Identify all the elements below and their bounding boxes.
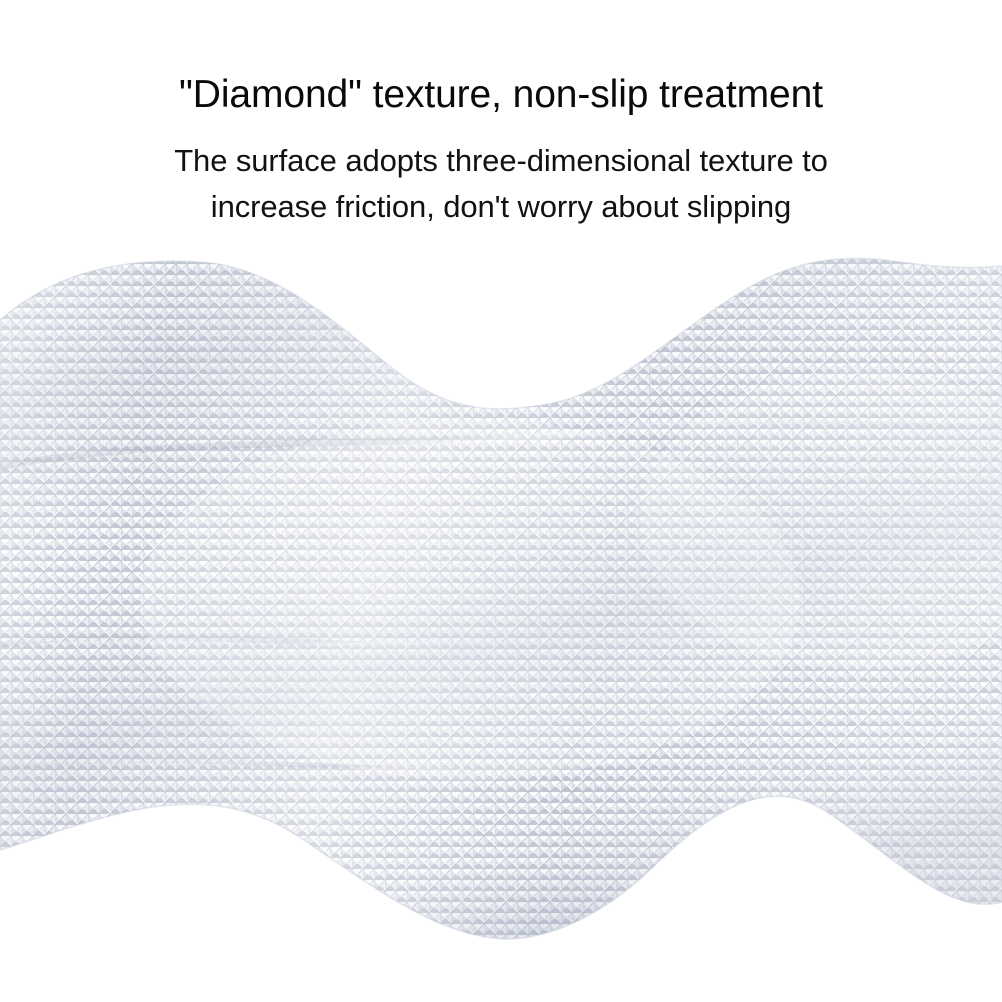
copy-block: "Diamond" texture, non-slip treatment Th… — [0, 0, 1002, 230]
page-title: "Diamond" texture, non-slip treatment — [0, 0, 1002, 118]
product-banner-page: "Diamond" texture, non-slip treatment Th… — [0, 0, 1002, 1002]
page-subtitle: The surface adopts three-dimensional tex… — [0, 118, 1002, 230]
page-subtitle-line-1: The surface adopts three-dimensional tex… — [0, 138, 1002, 184]
page-subtitle-line-2: increase friction, don't worry about sli… — [0, 184, 1002, 230]
